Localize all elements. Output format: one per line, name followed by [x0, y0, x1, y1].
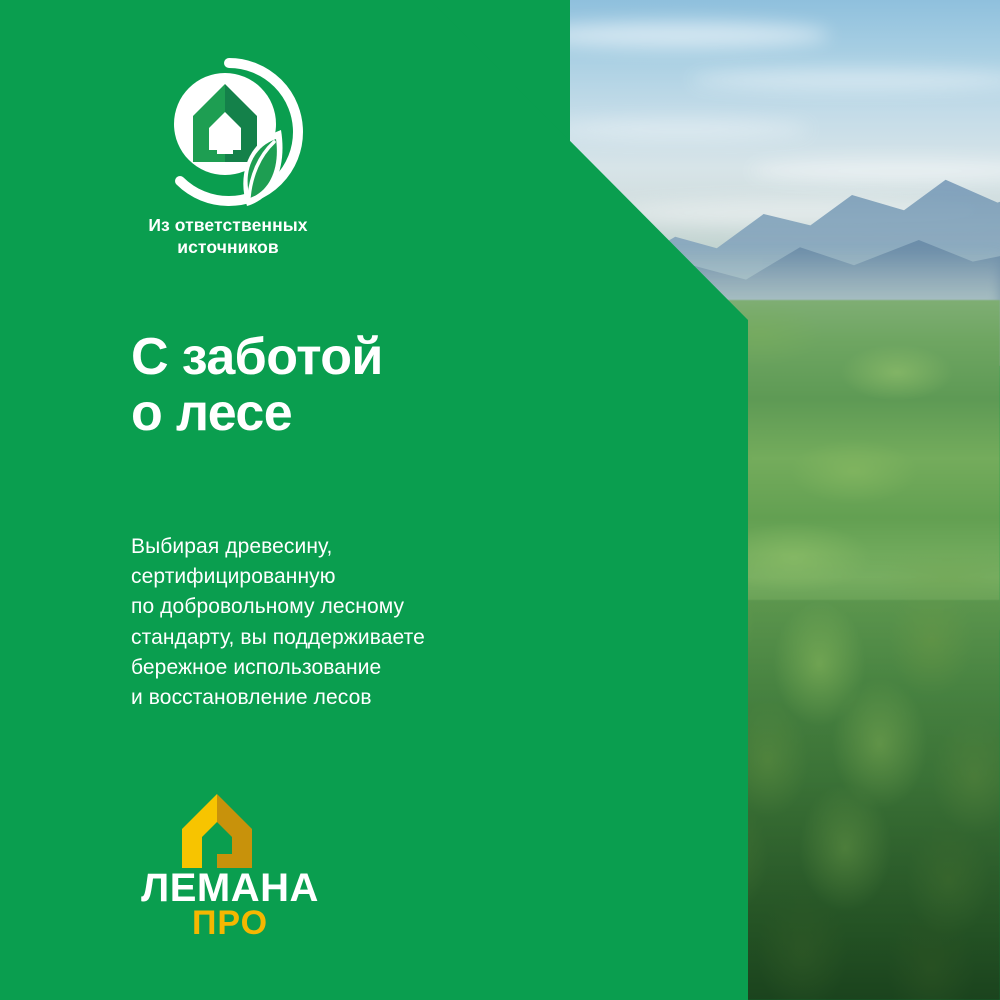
- pro-wordmark: ПРО: [140, 906, 320, 940]
- eco-badge-caption: Из ответственных источников: [128, 214, 328, 259]
- lemana-house-icon: [176, 792, 258, 870]
- responsible-sourcing-leaf-house-emblem-icon: [155, 58, 303, 206]
- body-paragraph: Выбирая древесину, сертифицированную по …: [131, 532, 425, 713]
- poster-root: Из ответственных источников С заботой о …: [0, 0, 1000, 1000]
- eco-caption-line-1: Из ответственных: [128, 214, 328, 236]
- page-title: С заботой о лесе: [131, 329, 383, 441]
- eco-caption-line-2: источников: [128, 236, 328, 258]
- lemana-pro-logo: ЛЕМАНА ПРО: [140, 792, 320, 942]
- lemana-wordmark: ЛЕМАНА: [140, 868, 320, 908]
